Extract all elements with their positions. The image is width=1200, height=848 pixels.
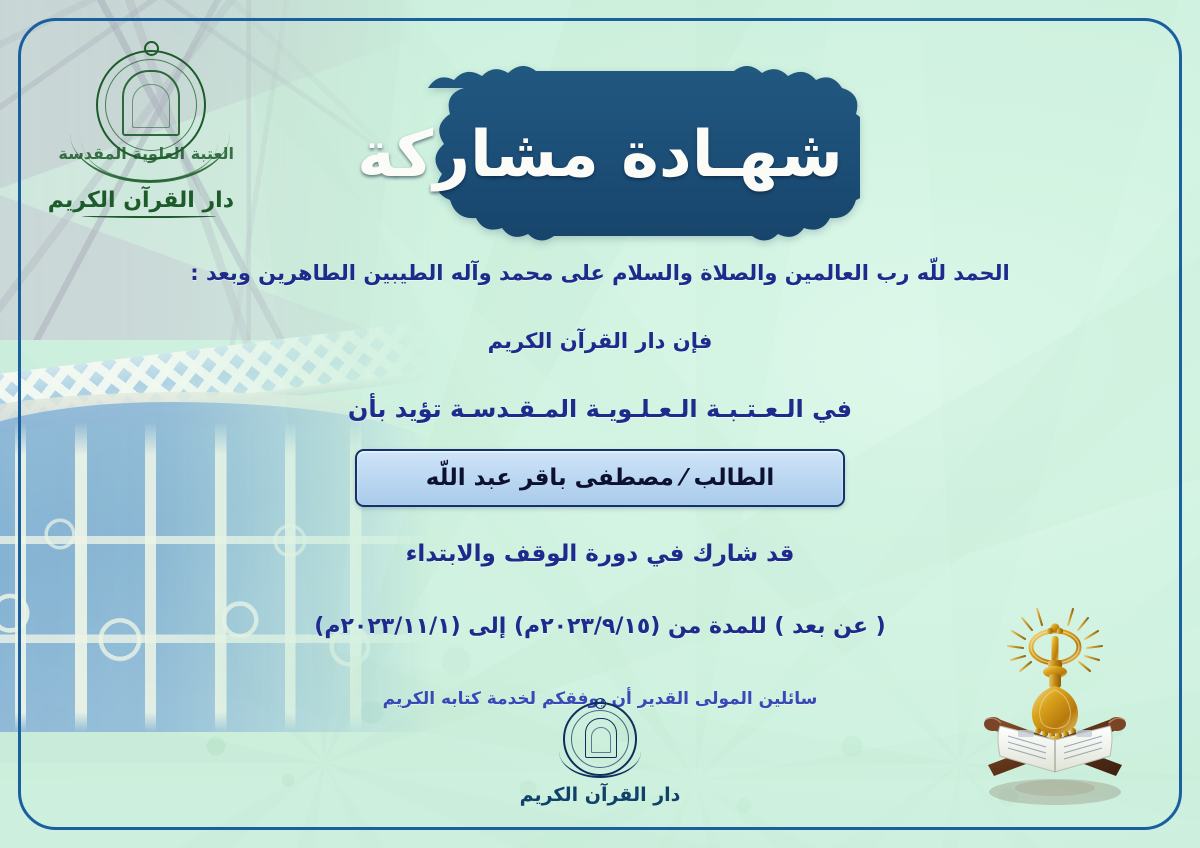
- student-name-box: الطالب ⁄ مصطفى باقر عبد اللّه: [355, 449, 845, 507]
- line-duration: ( عن بعد ) للمدة من (٢٠٢٣/٩/١٥م) إلى (٢٠…: [0, 610, 1200, 643]
- certificate-page: العتبة العلوية المقدسة دار القرآن الكريم…: [0, 0, 1200, 848]
- line-organization-parent: في الـعـتـبـة الـعـلـويـة المـقـدسـة تؤي…: [0, 391, 1200, 427]
- certificate-footer: دار القرآن الكريم: [0, 702, 1200, 806]
- dar-al-quran-seal-icon: [563, 702, 637, 776]
- alawi-shrine-dar-quran-logo-icon: العتبة العلوية المقدسة دار القرآن الكريم: [64, 48, 234, 238]
- line-participation: قد شارك في دورة الوقف والابتداء: [0, 537, 1200, 572]
- line-praise: الحمد للّه رب العالمين والصلاة والسلام ع…: [0, 258, 1200, 290]
- logo-calligraphy-bottom: دار القرآن الكريم: [64, 188, 234, 213]
- page-title: شهـادة مشاركة: [340, 66, 860, 250]
- logo-calligraphy-middle: العتبة العلوية المقدسة: [64, 144, 234, 163]
- certificate-body: الحمد للّه رب العالمين والصلاة والسلام ع…: [0, 258, 1200, 712]
- line-organization: فإن دار القرآن الكريم: [0, 326, 1200, 358]
- footer-organization-name: دار القرآن الكريم: [0, 784, 1200, 806]
- student-name-text: الطالب ⁄ مصطفى باقر عبد اللّه: [426, 465, 774, 491]
- title-banner: شهـادة مشاركة: [340, 66, 860, 250]
